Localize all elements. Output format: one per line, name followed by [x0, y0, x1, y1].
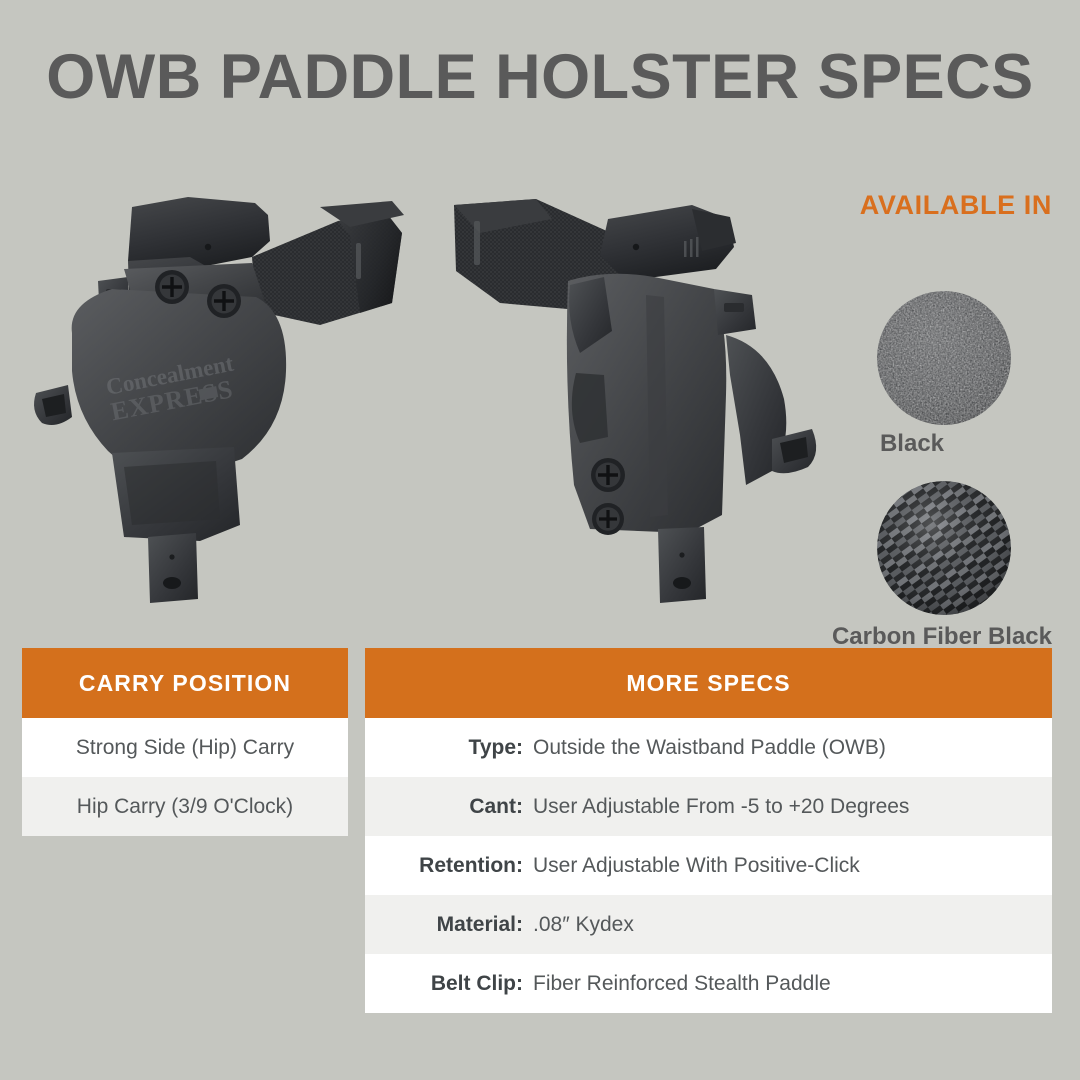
texture-swatch-carbon-fiber-icon[interactable]	[877, 481, 1011, 615]
carry-position-row: Hip Carry (3/9 O'Clock)	[22, 777, 348, 836]
adjustment-screw	[592, 503, 624, 535]
spec-value: Fiber Reinforced Stealth Paddle	[533, 972, 1052, 996]
holster-front-view: Concealment EXPRESS	[20, 185, 420, 625]
spec-row: Type: Outside the Waistband Paddle (OWB)	[365, 718, 1052, 777]
spec-row: Material: .08″ Kydex	[365, 895, 1052, 954]
page-title: OWB PADDLE HOLSTER SPECS	[0, 44, 1080, 111]
spec-value: .08″ Kydex	[533, 913, 1052, 937]
available-in-heading: AVAILABLE IN	[772, 192, 1052, 219]
adjustment-screw	[155, 270, 189, 304]
spec-label: Belt Clip:	[365, 972, 533, 996]
swatch-label-black: Black	[772, 430, 1052, 458]
spec-row: Cant: User Adjustable From -5 to +20 Deg…	[365, 777, 1052, 836]
spec-label: Type:	[365, 736, 533, 760]
more-specs-table: MORE SPECS Type: Outside the Waistband P…	[365, 648, 1052, 1013]
spec-value: User Adjustable With Positive-Click	[533, 854, 1052, 878]
adjustment-screw	[591, 458, 625, 492]
spec-label: Cant:	[365, 795, 533, 819]
spec-row: Belt Clip: Fiber Reinforced Stealth Padd…	[365, 954, 1052, 1013]
texture-swatch-black-icon[interactable]	[877, 291, 1011, 425]
swatch-label-carbon-fiber: Carbon Fiber Black	[762, 623, 1052, 651]
spec-label: Retention:	[365, 854, 533, 878]
product-photo-group: Concealment EXPRESS	[0, 185, 820, 625]
carry-position-header: CARRY POSITION	[22, 648, 348, 718]
spec-value: User Adjustable From -5 to +20 Degrees	[533, 795, 1052, 819]
spec-row: Retention: User Adjustable With Positive…	[365, 836, 1052, 895]
carry-position-table: CARRY POSITION Strong Side (Hip) Carry H…	[22, 648, 348, 836]
spec-value: Outside the Waistband Paddle (OWB)	[533, 736, 1052, 760]
spec-label: Material:	[365, 913, 533, 937]
adjustment-screw	[207, 284, 241, 318]
available-colors-panel: AVAILABLE IN	[772, 192, 1052, 663]
carry-position-row: Strong Side (Hip) Carry	[22, 718, 348, 777]
more-specs-header: MORE SPECS	[365, 648, 1052, 718]
